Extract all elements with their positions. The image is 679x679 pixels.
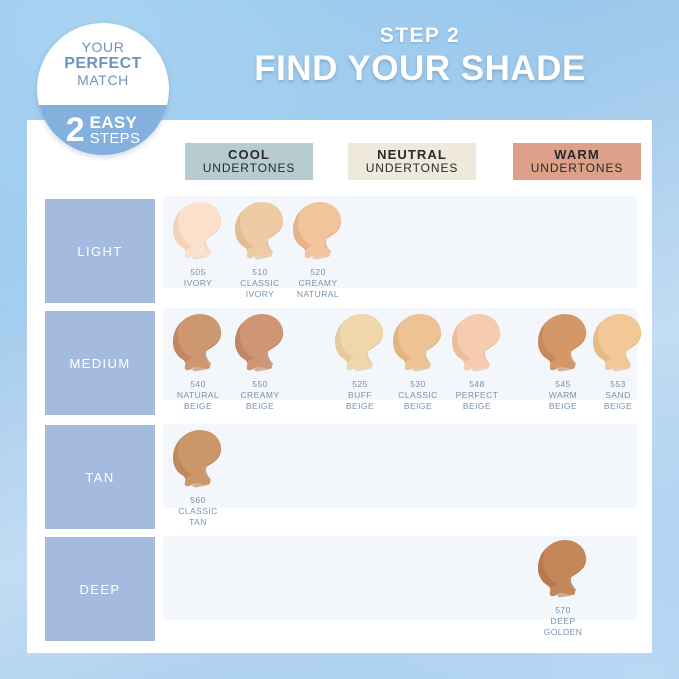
badge-line-3: MATCH bbox=[77, 73, 129, 88]
column-title: NEUTRAL bbox=[377, 148, 447, 163]
badge-bottom: 2 EASY STEPS bbox=[37, 105, 169, 155]
shade-number: 510 bbox=[230, 267, 290, 278]
column-subtitle: UNDERTONES bbox=[366, 162, 459, 175]
shade-finder-graphic: STEP 2 FIND YOUR SHADE YOUR PERFECT MATC… bbox=[0, 0, 679, 679]
shade-number: 525 bbox=[330, 379, 390, 390]
row-label-light: LIGHT bbox=[45, 199, 155, 303]
shade-name-part: CREAMY bbox=[230, 390, 290, 401]
badge-top: YOUR PERFECT MATCH bbox=[37, 23, 169, 105]
shade-number: 553 bbox=[588, 379, 648, 390]
shade-name-part: BEIGE bbox=[168, 401, 228, 412]
foundation-smear-icon bbox=[290, 200, 346, 262]
shade-number: 550 bbox=[230, 379, 290, 390]
column-subtitle: UNDERTONES bbox=[531, 162, 624, 175]
shade-name-part: BEIGE bbox=[388, 401, 448, 412]
foundation-smear-icon bbox=[232, 312, 288, 374]
row-label-deep: DEEP bbox=[45, 537, 155, 641]
page-header: STEP 2 FIND YOUR SHADE bbox=[185, 24, 655, 89]
shade-name-part: CLASSIC bbox=[168, 506, 228, 517]
perfect-match-badge: YOUR PERFECT MATCH 2 EASY STEPS bbox=[37, 23, 169, 155]
shade-caption: 570DEEPGOLDEN bbox=[533, 605, 593, 639]
shade-name-part: CLASSIC bbox=[388, 390, 448, 401]
foundation-smear-icon bbox=[449, 312, 505, 374]
shade-caption: 530CLASSICBEIGE bbox=[388, 379, 448, 413]
shade-number: 505 bbox=[168, 267, 228, 278]
column-header-neutral: NEUTRALUNDERTONES bbox=[348, 143, 476, 180]
shade-name-part: GOLDEN bbox=[533, 627, 593, 638]
shade-name-part: BEIGE bbox=[230, 401, 290, 412]
shade-swatch-553: 553SANDBEIGE bbox=[588, 312, 648, 413]
shade-caption: 553SANDBEIGE bbox=[588, 379, 648, 413]
foundation-smear-icon bbox=[535, 538, 591, 600]
foundation-smear-icon bbox=[590, 312, 646, 374]
row-label-medium: MEDIUM bbox=[45, 311, 155, 415]
shade-name-part: NATURAL bbox=[168, 390, 228, 401]
step-label: STEP 2 bbox=[185, 24, 655, 47]
shade-name-part: CREAMY bbox=[288, 278, 348, 289]
badge-easy-label: EASY bbox=[90, 114, 141, 131]
foundation-smear-icon bbox=[232, 200, 288, 262]
shade-swatch-550: 550CREAMYBEIGE bbox=[230, 312, 290, 413]
shade-name-part: BEIGE bbox=[533, 401, 593, 412]
shade-number: 540 bbox=[168, 379, 228, 390]
column-subtitle: UNDERTONES bbox=[203, 162, 296, 175]
badge-number: 2 bbox=[66, 113, 85, 147]
shade-caption: 520CREAMYNATURAL bbox=[288, 267, 348, 301]
shade-swatch-520: 520CREAMYNATURAL bbox=[288, 200, 348, 301]
shade-swatch-570: 570DEEPGOLDEN bbox=[533, 538, 593, 639]
shade-caption: 560CLASSICTAN bbox=[168, 495, 228, 529]
column-header-warm: WARMUNDERTONES bbox=[513, 143, 641, 180]
shade-caption: 545WARMBEIGE bbox=[533, 379, 593, 413]
shade-name-part: WARM bbox=[533, 390, 593, 401]
shade-name-part: TAN bbox=[168, 517, 228, 528]
shade-swatch-545: 545WARMBEIGE bbox=[533, 312, 593, 413]
badge-line-1: YOUR bbox=[82, 40, 125, 55]
shade-name-part: DEEP bbox=[533, 616, 593, 627]
shade-caption: 540NATURALBEIGE bbox=[168, 379, 228, 413]
shade-name-part: BEIGE bbox=[588, 401, 648, 412]
shade-number: 530 bbox=[388, 379, 448, 390]
shade-swatch-505: 505IVORY bbox=[168, 200, 228, 289]
column-title: WARM bbox=[554, 148, 600, 163]
shade-swatch-510: 510CLASSICIVORY bbox=[230, 200, 290, 301]
shade-number: 548 bbox=[447, 379, 507, 390]
shade-name-part: NATURAL bbox=[288, 289, 348, 300]
page-title: FIND YOUR SHADE bbox=[185, 50, 655, 89]
shade-name-part: BUFF bbox=[330, 390, 390, 401]
shade-number: 560 bbox=[168, 495, 228, 506]
badge-line-2: PERFECT bbox=[64, 55, 141, 72]
foundation-smear-icon bbox=[170, 428, 226, 490]
shade-caption: 548PERFECTBEIGE bbox=[447, 379, 507, 413]
shade-swatch-530: 530CLASSICBEIGE bbox=[388, 312, 448, 413]
shade-swatch-560: 560CLASSICTAN bbox=[168, 428, 228, 529]
shade-caption: 550CREAMYBEIGE bbox=[230, 379, 290, 413]
foundation-smear-icon bbox=[332, 312, 388, 374]
shade-name-part: IVORY bbox=[230, 289, 290, 300]
shade-name-part: PERFECT bbox=[447, 390, 507, 401]
badge-steps-label: STEPS bbox=[90, 131, 141, 146]
shade-number: 570 bbox=[533, 605, 593, 616]
shade-number: 520 bbox=[288, 267, 348, 278]
shade-caption: 510CLASSICIVORY bbox=[230, 267, 290, 301]
shade-name-part: BEIGE bbox=[330, 401, 390, 412]
shade-name-part: BEIGE bbox=[447, 401, 507, 412]
shade-name-part: SAND bbox=[588, 390, 648, 401]
foundation-smear-icon bbox=[170, 200, 226, 262]
shade-swatch-525: 525BUFFBEIGE bbox=[330, 312, 390, 413]
foundation-smear-icon bbox=[170, 312, 226, 374]
shade-swatch-540: 540NATURALBEIGE bbox=[168, 312, 228, 413]
shade-number: 545 bbox=[533, 379, 593, 390]
column-header-cool: COOLUNDERTONES bbox=[185, 143, 313, 180]
row-label-tan: TAN bbox=[45, 425, 155, 529]
row-band-tan bbox=[163, 424, 637, 508]
shade-caption: 525BUFFBEIGE bbox=[330, 379, 390, 413]
foundation-smear-icon bbox=[535, 312, 591, 374]
shade-name-part: CLASSIC bbox=[230, 278, 290, 289]
shade-caption: 505IVORY bbox=[168, 267, 228, 289]
foundation-smear-icon bbox=[390, 312, 446, 374]
shade-swatch-548: 548PERFECTBEIGE bbox=[447, 312, 507, 413]
shade-name-part: IVORY bbox=[168, 278, 228, 289]
column-title: COOL bbox=[228, 148, 270, 163]
